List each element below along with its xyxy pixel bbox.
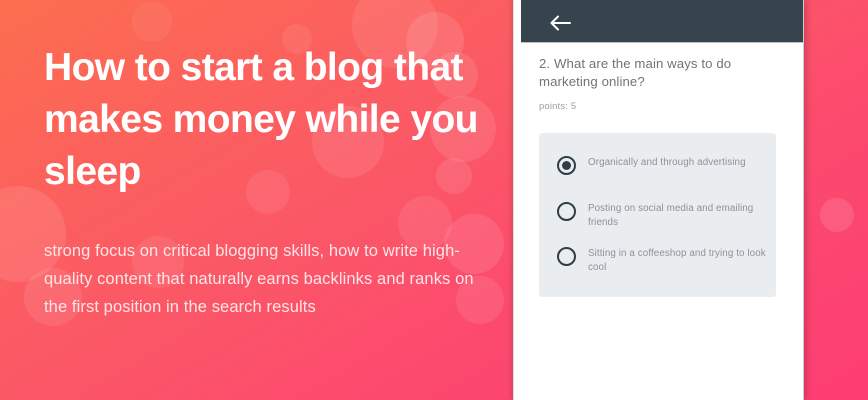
points-label: points: 5: [539, 101, 785, 112]
back-button[interactable]: [549, 12, 573, 34]
answer-option-3[interactable]: Sitting in a coffeeshop and trying to lo…: [557, 246, 767, 274]
arrow-left-icon: [549, 12, 573, 34]
poster-canvas: How to start a blog that makes money whi…: [0, 0, 868, 400]
page-title: How to start a blog that makes money whi…: [44, 42, 484, 198]
answer-option-2[interactable]: Posting on social media and emailing fri…: [557, 201, 767, 229]
radio-button-icon[interactable]: [557, 247, 576, 266]
radio-button-selected-icon[interactable]: [557, 156, 576, 175]
question-block: 2. What are the main ways to do marketin…: [539, 55, 785, 112]
question-text: 2. What are the main ways to do marketin…: [539, 55, 785, 91]
answer-options-card: Organically and through advertising Post…: [539, 133, 776, 297]
answer-option-label: Sitting in a coffeeshop and trying to lo…: [588, 246, 767, 274]
answer-option-1[interactable]: Organically and through advertising: [557, 155, 767, 175]
background-right-strip: [804, 0, 868, 400]
radio-button-icon[interactable]: [557, 202, 576, 221]
answer-option-label: Posting on social media and emailing fri…: [588, 201, 767, 229]
hero-subtitle: strong focus on critical blogging skills…: [44, 237, 489, 321]
answer-option-label: Organically and through advertising: [588, 155, 746, 170]
app-header: [521, 0, 804, 43]
phone-mockup: 2. What are the main ways to do marketin…: [513, 0, 804, 400]
hero-section: How to start a blog that makes money whi…: [0, 0, 513, 400]
